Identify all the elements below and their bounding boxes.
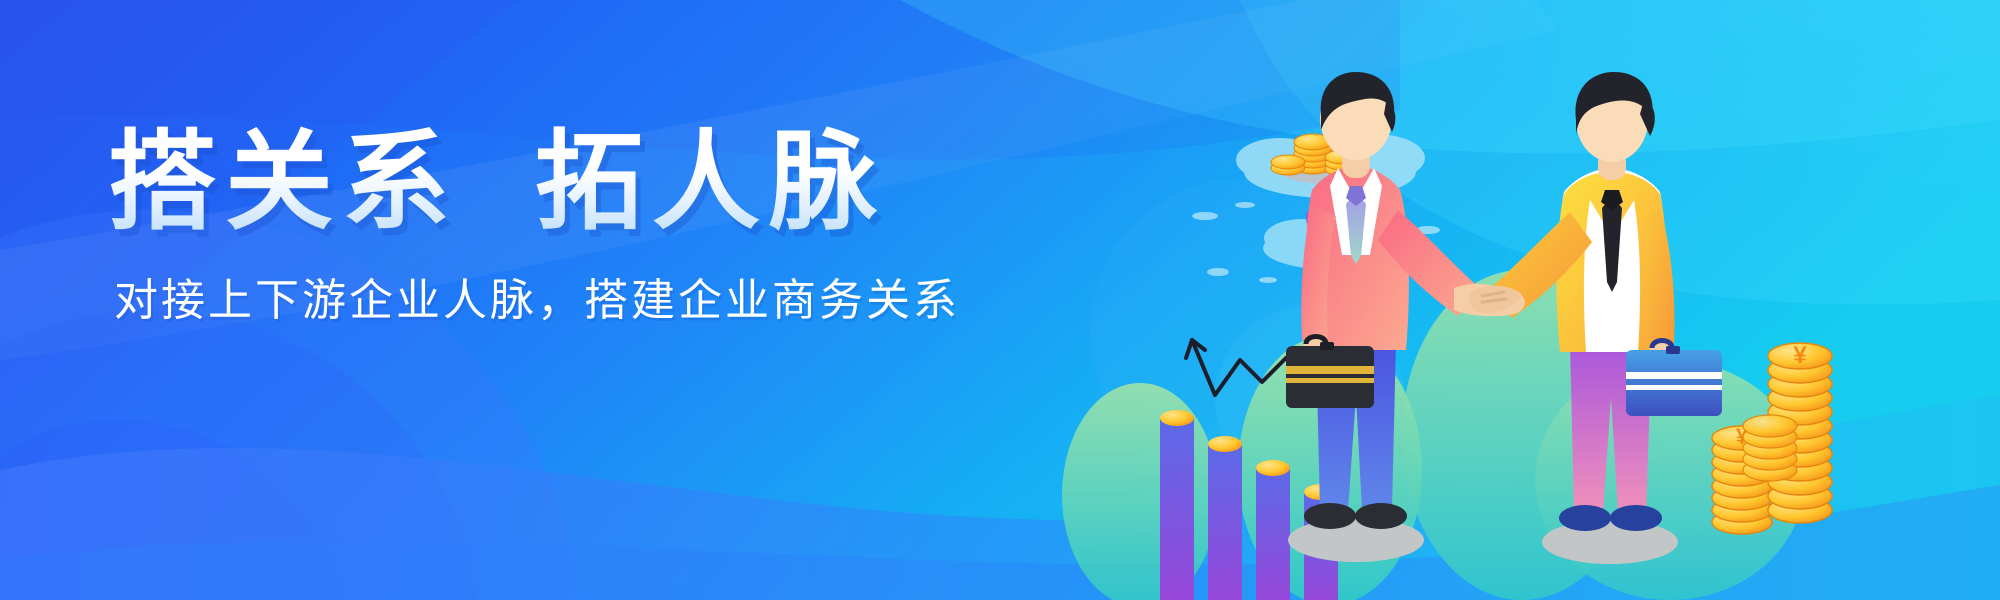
left-shoe-1 [1304, 503, 1356, 529]
banner-text-block: 搭关系 拓人脉 对接上下游企业人脉，搭建企业商务关系 [108, 118, 968, 328]
left-shadow [1288, 518, 1424, 562]
page-title: 搭关系 拓人脉 [108, 118, 968, 245]
right-shoe-1 [1559, 505, 1611, 531]
coin-yuan-symbol-tall: ¥ [1793, 342, 1807, 369]
coin-stack-back [1743, 415, 1797, 481]
two-businessmen-handshake-illustration: ¥ [1030, 40, 1930, 600]
headline-part-1: 搭关系 [108, 121, 459, 242]
right-shoe-2 [1610, 505, 1662, 531]
blue-briefcase [1626, 341, 1722, 417]
left-shoe-2 [1355, 503, 1407, 529]
coin-stacks-yuan: ¥ [1712, 342, 1832, 534]
marketing-banner: ¥ [0, 0, 2000, 600]
headline-spacer [459, 121, 535, 242]
bar-2 [1208, 436, 1242, 600]
black-briefcase [1286, 337, 1374, 409]
page-subtitle: 对接上下游企业人脉，搭建企业商务关系 [114, 273, 968, 328]
right-shadow [1542, 520, 1678, 564]
headline-part-2: 拓人脉 [535, 121, 886, 242]
bar-3 [1256, 460, 1290, 600]
bar-1 [1160, 410, 1194, 600]
